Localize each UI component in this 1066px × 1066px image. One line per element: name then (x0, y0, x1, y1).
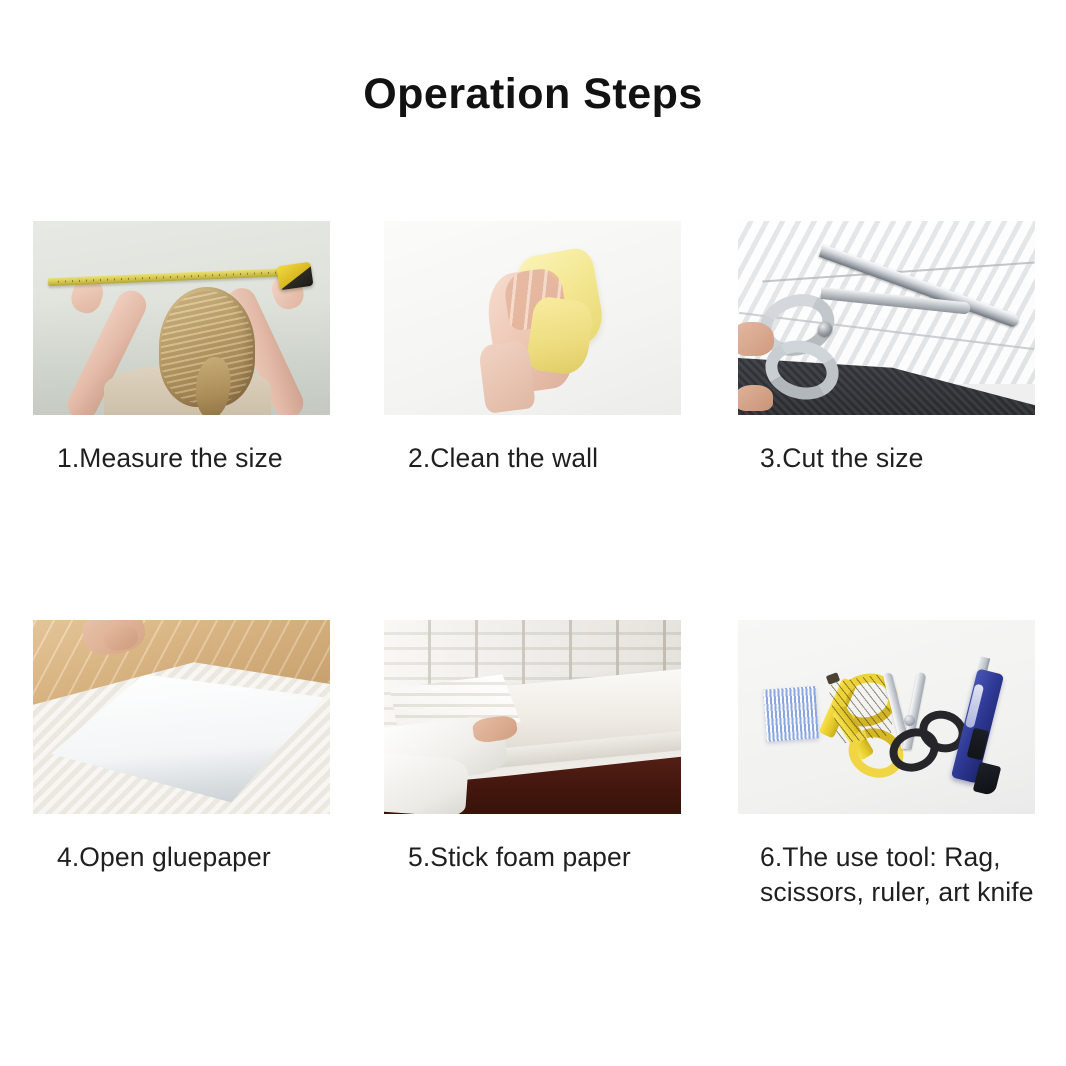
thumb-shape (738, 322, 774, 356)
finger-shape (738, 385, 773, 411)
step-caption-6: 6.The use tool: Rag, scissors, ruler, ar… (738, 840, 1035, 910)
cloth-fold-shape (525, 295, 595, 377)
stick-foam-paper-photo (384, 620, 681, 814)
step-card-4: 4.Open gluepaper (33, 620, 330, 875)
tape-measure-case (277, 261, 314, 289)
step-caption-6-line-2: scissors, ruler, art knife (760, 875, 1035, 910)
step-caption-4: 4.Open gluepaper (33, 840, 330, 875)
tape-measure-strip (48, 268, 295, 286)
white-sleeve-lower (384, 752, 469, 814)
clean-the-wall-photo (384, 221, 681, 415)
step-card-2: 2.Clean the wall (384, 221, 681, 476)
measure-the-size-photo (33, 221, 330, 415)
open-gluepaper-photo (33, 620, 330, 814)
step-card-6: 6.The use tool: Rag, scissors, ruler, ar… (738, 620, 1035, 910)
step-card-3: 3.Cut the size (738, 221, 1035, 476)
wrist-shape (478, 340, 536, 414)
page-title: Operation Steps (0, 70, 1066, 119)
tape-measure-markings (828, 674, 894, 745)
cut-the-size-photo (738, 221, 1035, 415)
steps-grid: 1.Measure the size 2.Clean the wall (33, 221, 1033, 941)
step-caption-5: 5.Stick foam paper (384, 840, 681, 875)
step-caption-1: 1.Measure the size (33, 441, 330, 476)
use-tool-photo (738, 620, 1035, 814)
step-card-5: 5.Stick foam paper (384, 620, 681, 875)
rag-icon (763, 686, 819, 742)
step-caption-6-line-1: 6.The use tool: Rag, (760, 840, 1035, 875)
scissor-pivot-screw (818, 322, 832, 336)
step-caption-3: 3.Cut the size (738, 441, 1035, 476)
operation-steps-page: Operation Steps 1.Measure the size (0, 0, 1066, 1066)
step-card-1: 1.Measure the size (33, 221, 330, 476)
step-caption-2: 2.Clean the wall (384, 441, 681, 476)
